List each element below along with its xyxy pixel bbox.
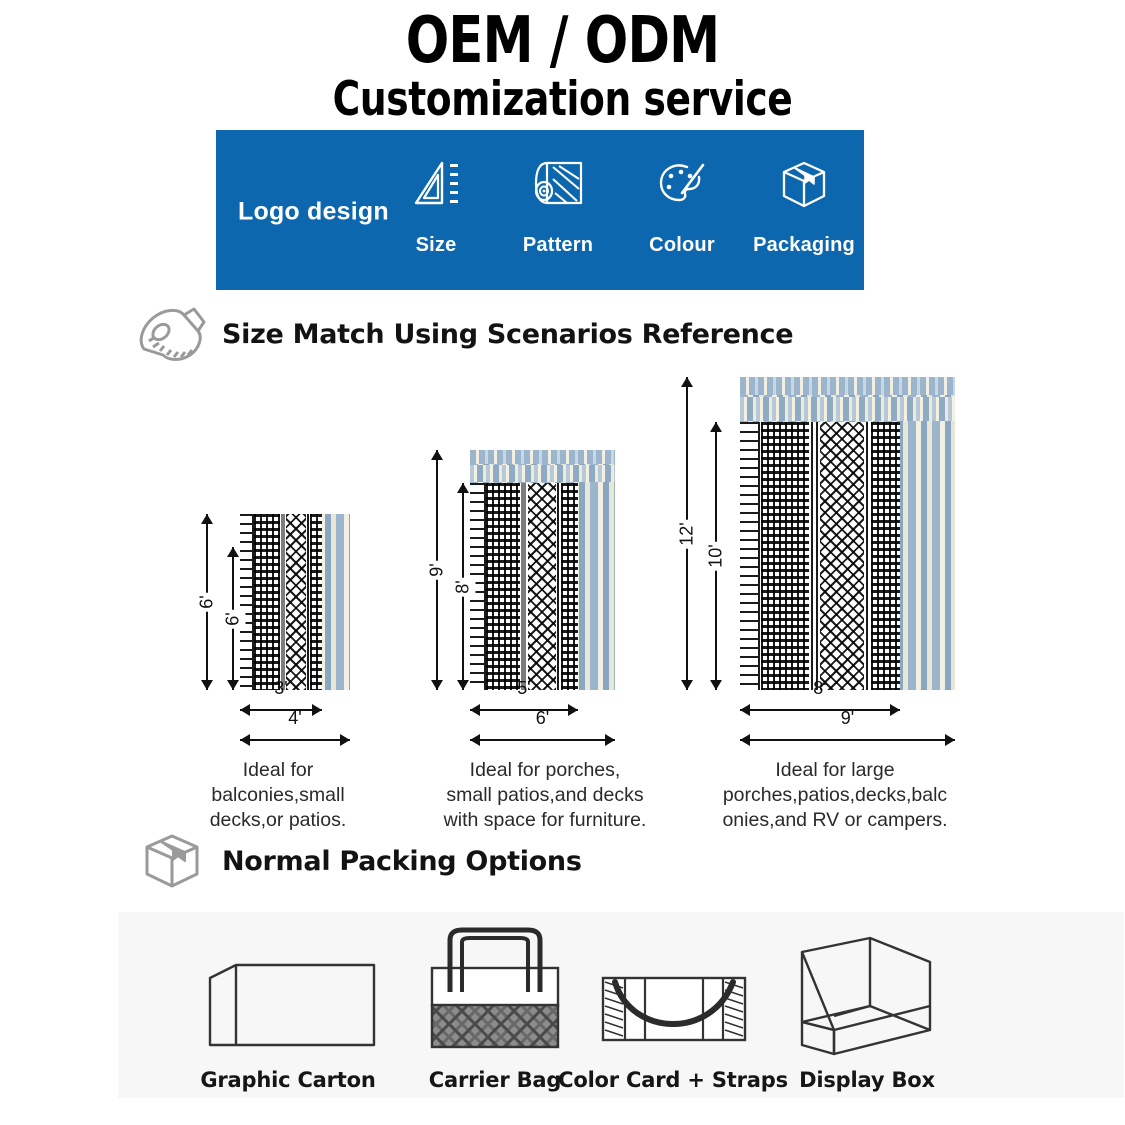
caption-line: Ideal for <box>178 758 378 783</box>
caption-line: balconies,small <box>178 783 378 808</box>
dim-width-inner-small: 3' <box>240 700 322 720</box>
tape-measure-icon <box>136 305 208 363</box>
dim-label: 9' <box>841 708 854 730</box>
dim-width-inner-large: 8' <box>740 700 900 720</box>
feature-size-label: Size <box>376 234 496 257</box>
section-header-packing: Normal Packing Options <box>136 832 582 890</box>
dim-label: 6' <box>536 708 549 730</box>
dim-height-outer-large: 12' <box>676 377 698 690</box>
logo-design-label: Logo design <box>238 198 389 227</box>
page-title: OEM / ODM Customization service <box>0 6 1125 126</box>
dim-width-outer-medium: 6' <box>470 730 615 750</box>
caption-line: small patios,and decks <box>420 783 670 808</box>
dim-label: 8' <box>813 678 826 700</box>
rolled-rug-icon <box>498 154 618 216</box>
feature-packaging[interactable]: Packaging <box>744 154 864 257</box>
dim-height-outer-medium: 9' <box>426 450 448 690</box>
rug-illustration-small <box>240 514 350 690</box>
title-subtitle: Customization service <box>113 74 1013 126</box>
feature-pattern[interactable]: Pattern <box>498 154 618 257</box>
feature-packaging-label: Packaging <box>744 234 864 257</box>
packing-option-display-box[interactable]: Display Box <box>742 920 992 1092</box>
scenario-caption-medium: Ideal for porches, small patios,and deck… <box>420 758 670 833</box>
dim-label: 3' <box>274 678 287 700</box>
feature-colour[interactable]: Colour <box>622 154 742 257</box>
dim-height-inner-large: 10' <box>705 422 727 690</box>
size-scenarios: 6' 6' 3' 4' Ideal for balconies,small de… <box>0 365 1125 805</box>
dim-height-outer-small: 6' <box>196 514 218 690</box>
customization-banner: Logo design Size <box>216 130 864 290</box>
section-title-packing: Normal Packing Options <box>222 846 582 877</box>
scenario-caption-large: Ideal for large porches,patios,decks,bal… <box>690 758 980 833</box>
section-title-size-match: Size Match Using Scenarios Reference <box>222 319 793 350</box>
dim-label: 6' <box>221 609 246 628</box>
triangle-ruler-icon <box>376 154 496 216</box>
carton-box-icon <box>136 832 208 890</box>
feature-colour-label: Colour <box>622 234 742 257</box>
caption-line: decks,or patios. <box>178 808 378 833</box>
caption-line: Ideal for large <box>690 758 980 783</box>
dim-label: 5' <box>517 678 530 700</box>
caption-line: onies,and RV or campers. <box>690 808 980 833</box>
package-box-icon <box>744 154 864 216</box>
feature-pattern-label: Pattern <box>498 234 618 257</box>
infographic-page: OEM / ODM Customization service Logo des… <box>0 0 1125 1125</box>
packing-option-label: Display Box <box>742 1068 992 1092</box>
caption-line: porches,patios,decks,balc <box>690 783 980 808</box>
dim-label: 12' <box>675 519 700 548</box>
caption-line: Ideal for porches, <box>420 758 670 783</box>
display-box-icon <box>742 920 992 1060</box>
dim-label: 9' <box>425 560 450 579</box>
dim-height-inner-medium: 8' <box>452 483 474 690</box>
feature-size[interactable]: Size <box>376 154 496 257</box>
section-header-size-match: Size Match Using Scenarios Reference <box>136 305 793 363</box>
dim-height-inner-small: 6' <box>222 547 244 690</box>
title-main: OEM / ODM <box>113 6 1013 76</box>
dim-label: 10' <box>704 541 729 570</box>
rug-illustration-medium <box>470 450 615 690</box>
dim-label: 4' <box>288 708 301 730</box>
rug-illustration-large <box>740 377 955 690</box>
paint-palette-icon <box>622 154 742 216</box>
dim-width-inner-medium: 5' <box>470 700 578 720</box>
caption-line: with space for furniture. <box>420 808 670 833</box>
scenario-caption-small: Ideal for balconies,small decks,or patio… <box>178 758 378 833</box>
dim-label: 8' <box>451 577 476 596</box>
dim-label: 6' <box>195 592 220 611</box>
dim-width-outer-large: 9' <box>740 730 955 750</box>
dim-width-outer-small: 4' <box>240 730 350 750</box>
